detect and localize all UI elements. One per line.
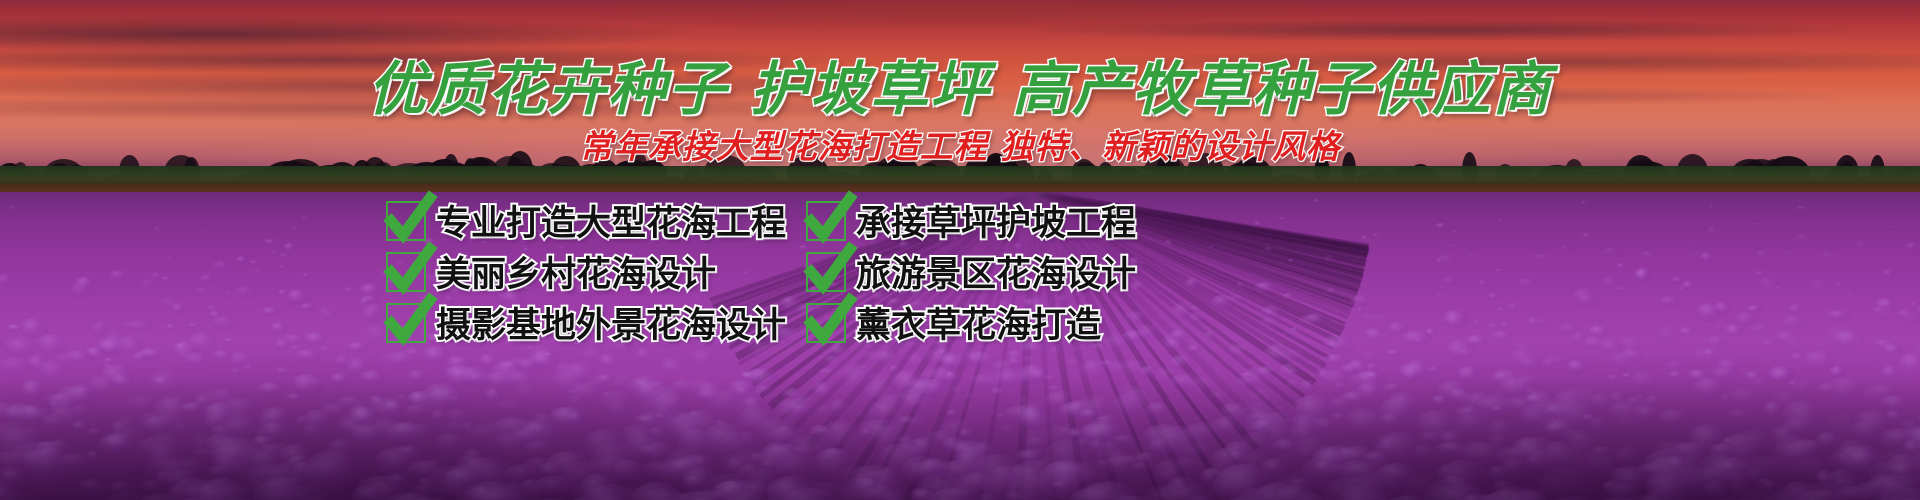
banner-subheadline: 常年承接大型花海打造工程 独特、新颖的设计风格 [0,120,1920,168]
banner-content: 优质花卉种子 护坡草坪 高产牧草种子供应商 常年承接大型花海打造工程 独特、新颖… [0,0,1920,500]
checklist-item-label: 旅游景区花海设计 [856,246,1136,297]
checklist-row: 专业打造大型花海工程承接草坪护坡工程 [386,196,1534,245]
check-icon [803,194,855,246]
checkbox-checked [806,252,846,292]
checklist-item[interactable]: 薰衣草花海打造 [806,297,1101,348]
checklist-item[interactable]: 专业打造大型花海工程 [386,195,806,246]
checkbox-checked [386,303,426,343]
checklist-item-label: 承接草坪护坡工程 [856,195,1136,246]
banner-headline: 优质花卉种子 护坡草坪 高产牧草种子供应商 [0,42,1920,126]
checklist-row: 摄影基地外景花海设计薰衣草花海打造 [386,298,1534,347]
checklist-item[interactable]: 承接草坪护坡工程 [806,195,1136,246]
hero-banner: 优质花卉种子 护坡草坪 高产牧草种子供应商 常年承接大型花海打造工程 独特、新颖… [0,0,1920,500]
checklist-item-label: 美丽乡村花海设计 [436,246,716,297]
checkbox-checked [386,201,426,241]
checklist-item[interactable]: 摄影基地外景花海设计 [386,297,806,348]
checkbox-checked [806,303,846,343]
check-icon [383,296,435,348]
checklist-row: 美丽乡村花海设计旅游景区花海设计 [386,247,1534,296]
checklist-item-label: 薰衣草花海打造 [856,297,1101,348]
check-icon [803,296,855,348]
checklist-item[interactable]: 美丽乡村花海设计 [386,246,806,297]
check-icon [803,245,855,297]
checkbox-checked [806,201,846,241]
checklist-item-label: 专业打造大型花海工程 [436,195,786,246]
feature-checklist: 专业打造大型花海工程承接草坪护坡工程美丽乡村花海设计旅游景区花海设计摄影基地外景… [386,196,1534,349]
checkbox-checked [386,252,426,292]
checklist-item[interactable]: 旅游景区花海设计 [806,246,1136,297]
check-icon [383,194,435,246]
checklist-item-label: 摄影基地外景花海设计 [436,297,786,348]
check-icon [383,245,435,297]
